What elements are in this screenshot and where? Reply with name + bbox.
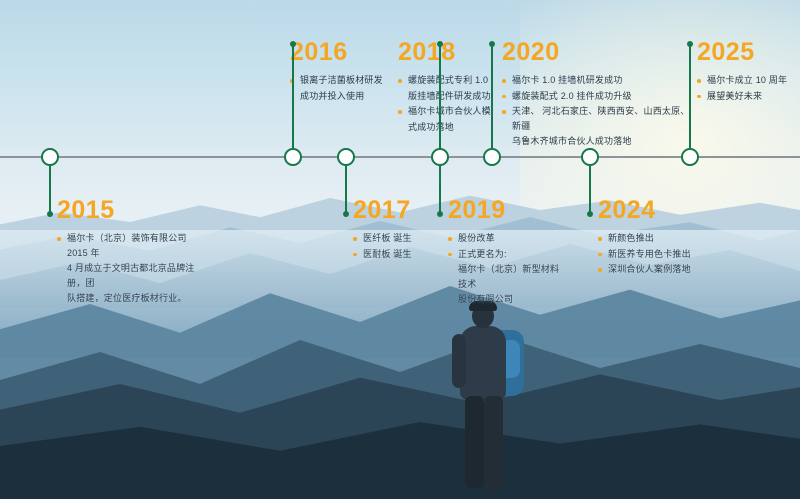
stem-dot-2024	[587, 211, 593, 217]
stem-2024	[589, 166, 591, 214]
timeline-infographic: 2016 银离子洁菌板材研发 成功并投入使用 2018 螺旋装配式专利 1.0 …	[0, 0, 800, 499]
list-item: 正式更名为:	[448, 247, 563, 262]
timeline-node-2015[interactable]	[41, 148, 59, 166]
hiker-leg-left	[465, 396, 484, 488]
bullet-list-2020: 福尔卡 1.0 挂墙机研发成功 螺旋装配式 2.0 挂件成功升级 天津、 河北石…	[502, 73, 692, 149]
bullet-list-2024: 新颜色推出 新医养专用色卡推出 深圳合伙人案例落地	[598, 231, 728, 277]
hiker-leg-right	[484, 396, 503, 492]
milestone-2019: 2019 股份改革 正式更名为: 福尔卡（北京）新型材料技术 股份有限公司	[448, 198, 563, 308]
stem-dot-2017	[343, 211, 349, 217]
timeline-node-2020[interactable]	[581, 148, 599, 166]
bullet-list-2015: 福尔卡（北京）装饰有限公司 2015 年 4 月成立于文明古都北京品牌注册，团 …	[57, 231, 202, 306]
bullet-list-2019: 股份改革 正式更名为: 福尔卡（北京）新型材料技术 股份有限公司	[448, 231, 563, 307]
list-item: 展望美好未来	[697, 89, 797, 104]
milestone-2016: 2016 银离子洁菌板材研发 成功并投入使用	[290, 40, 395, 104]
stem-dot-2015	[47, 211, 53, 217]
timeline-node-2025[interactable]	[681, 148, 699, 166]
list-item: 福尔卡（北京）新型材料技术	[448, 262, 563, 291]
list-item: 深圳合伙人案例落地	[598, 262, 728, 277]
bullet-list-2016: 银离子洁菌板材研发 成功并投入使用	[290, 73, 395, 103]
stem-dot-2019	[437, 211, 443, 217]
stem-dot-2018	[437, 41, 443, 47]
year-label-2024: 2024	[598, 198, 728, 223]
list-item: 股份有限公司	[448, 292, 563, 307]
timeline-node-2016[interactable]	[284, 148, 302, 166]
year-label-2017: 2017	[353, 198, 448, 223]
year-label-2015: 2015	[57, 198, 202, 223]
bullet-list-2018: 螺旋装配式专利 1.0 版挂墙配件研发成功 福尔卡城市合伙人模 式成功落地	[398, 73, 498, 134]
timeline-node-2017[interactable]	[337, 148, 355, 166]
list-item: 式成功落地	[398, 120, 498, 135]
list-item: 福尔卡成立 10 周年	[697, 73, 797, 88]
year-label-2019: 2019	[448, 198, 563, 223]
stem-dot-2025	[687, 41, 693, 47]
milestone-2024: 2024 新颜色推出 新医养专用色卡推出 深圳合伙人案例落地	[598, 198, 728, 278]
bullet-list-2017: 医纤板 诞生 医耐板 诞生	[353, 231, 448, 261]
milestone-2018: 2018 螺旋装配式专利 1.0 版挂墙配件研发成功 福尔卡城市合伙人模 式成功…	[398, 40, 498, 135]
stem-2019	[439, 166, 441, 214]
timeline-axis	[0, 156, 800, 158]
year-label-2025: 2025	[697, 40, 797, 65]
milestone-2020: 2020 福尔卡 1.0 挂墙机研发成功 螺旋装配式 2.0 挂件成功升级 天津…	[502, 40, 692, 150]
list-item: 银离子洁菌板材研发	[290, 73, 395, 88]
year-label-2016: 2016	[290, 40, 395, 65]
hiker-arm	[452, 334, 466, 388]
list-item: 螺旋装配式专利 1.0	[398, 73, 498, 88]
list-item: 成功并投入使用	[290, 89, 395, 104]
year-label-2018: 2018	[398, 40, 498, 65]
timeline-node-2018[interactable]	[431, 148, 449, 166]
milestone-2017: 2017 医纤板 诞生 医耐板 诞生	[353, 198, 448, 262]
list-item: 医耐板 诞生	[353, 247, 448, 262]
hiker-silhouette	[438, 300, 558, 499]
list-item: 新颜色推出	[598, 231, 728, 246]
stem-2020	[491, 44, 493, 148]
list-item: 队搭建，定位医疗板材行业。	[57, 291, 202, 306]
list-item: 螺旋装配式 2.0 挂件成功升级	[502, 89, 692, 104]
list-item: 天津、 河北石家庄、陕西西安、山西太原、新疆	[502, 104, 692, 133]
list-item: 新医养专用色卡推出	[598, 247, 728, 262]
list-item: 福尔卡（北京）装饰有限公司 2015 年	[57, 231, 202, 260]
bullet-list-2025: 福尔卡成立 10 周年 展望美好未来	[697, 73, 797, 103]
stem-2016	[292, 44, 294, 148]
stem-2018	[439, 44, 441, 148]
stem-2015	[49, 166, 51, 214]
milestone-2025: 2025 福尔卡成立 10 周年 展望美好未来	[697, 40, 797, 104]
list-item: 股份改革	[448, 231, 563, 246]
list-item: 福尔卡城市合伙人模	[398, 104, 498, 119]
hiker-body	[460, 326, 506, 400]
stem-2025	[689, 44, 691, 148]
timeline-node-2019[interactable]	[483, 148, 501, 166]
year-label-2020: 2020	[502, 40, 692, 65]
list-item: 乌鲁木齐城市合伙人成功落地	[502, 134, 692, 149]
stem-dot-2016	[290, 41, 296, 47]
list-item: 福尔卡 1.0 挂墙机研发成功	[502, 73, 692, 88]
milestone-2015: 2015 福尔卡（北京）装饰有限公司 2015 年 4 月成立于文明古都北京品牌…	[57, 198, 202, 307]
list-item: 医纤板 诞生	[353, 231, 448, 246]
list-item: 4 月成立于文明古都北京品牌注册，团	[57, 261, 202, 290]
list-item: 版挂墙配件研发成功	[398, 89, 498, 104]
stem-dot-2020	[489, 41, 495, 47]
stem-2017	[345, 166, 347, 214]
